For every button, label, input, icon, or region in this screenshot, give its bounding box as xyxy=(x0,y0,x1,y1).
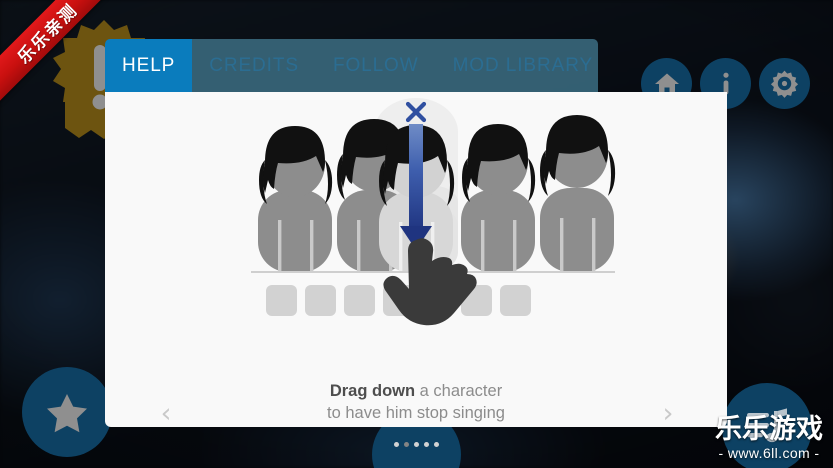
caption-line-2: to have him stop singing xyxy=(105,402,727,424)
pager-dot-2[interactable] xyxy=(404,442,409,447)
tab-bar: HELP CREDITS FOLLOW MOD LIBRARY xyxy=(105,39,598,92)
gear-icon xyxy=(770,69,799,98)
help-panel: HELP CREDITS FOLLOW MOD LIBRARY xyxy=(105,39,727,427)
pager-dot-1[interactable] xyxy=(394,442,399,447)
help-panel-body: Drag down a character to have him stop s… xyxy=(105,92,727,427)
caption-rest: a character xyxy=(415,382,502,400)
slot-2 xyxy=(305,285,336,316)
drag-down-character-illustration xyxy=(105,92,727,327)
pager-dot-4[interactable] xyxy=(424,442,429,447)
tab-help-label: HELP xyxy=(122,55,175,77)
slot-7 xyxy=(500,285,531,316)
tab-follow-label: FOLLOW xyxy=(333,55,419,77)
tab-credits[interactable]: CREDITS xyxy=(192,39,316,92)
pager-dot-3[interactable] xyxy=(414,442,419,447)
character-4 xyxy=(461,124,535,272)
instruction-caption: Drag down a character to have him stop s… xyxy=(105,380,727,424)
slot-3 xyxy=(344,285,375,316)
music-button[interactable] xyxy=(722,383,812,468)
character-1 xyxy=(258,126,332,272)
next-slide-button[interactable]: › xyxy=(653,399,683,429)
previous-slide-button[interactable]: ‹ xyxy=(151,399,181,429)
app-root: 乐乐亲测 HELP CREDITS FOLLOW MOD LIBRARY xyxy=(0,0,833,468)
illustration-svg xyxy=(105,92,727,327)
caption-line-1: Drag down a character xyxy=(105,380,727,402)
pagination-dots xyxy=(105,442,727,447)
settings-button[interactable] xyxy=(759,58,810,109)
star-icon xyxy=(44,389,90,435)
favorites-button[interactable] xyxy=(22,367,112,457)
slot-1 xyxy=(266,285,297,316)
tab-mod-library[interactable]: MOD LIBRARY xyxy=(436,39,598,92)
character-5 xyxy=(540,115,615,272)
caption-bold: Drag down xyxy=(330,382,415,400)
tab-follow[interactable]: FOLLOW xyxy=(316,39,436,92)
tab-mod-library-label: MOD LIBRARY xyxy=(453,55,593,77)
music-note-icon xyxy=(743,406,791,450)
tab-help[interactable]: HELP xyxy=(105,39,192,92)
tab-credits-label: CREDITS xyxy=(209,55,299,77)
pager-dot-5[interactable] xyxy=(434,442,439,447)
